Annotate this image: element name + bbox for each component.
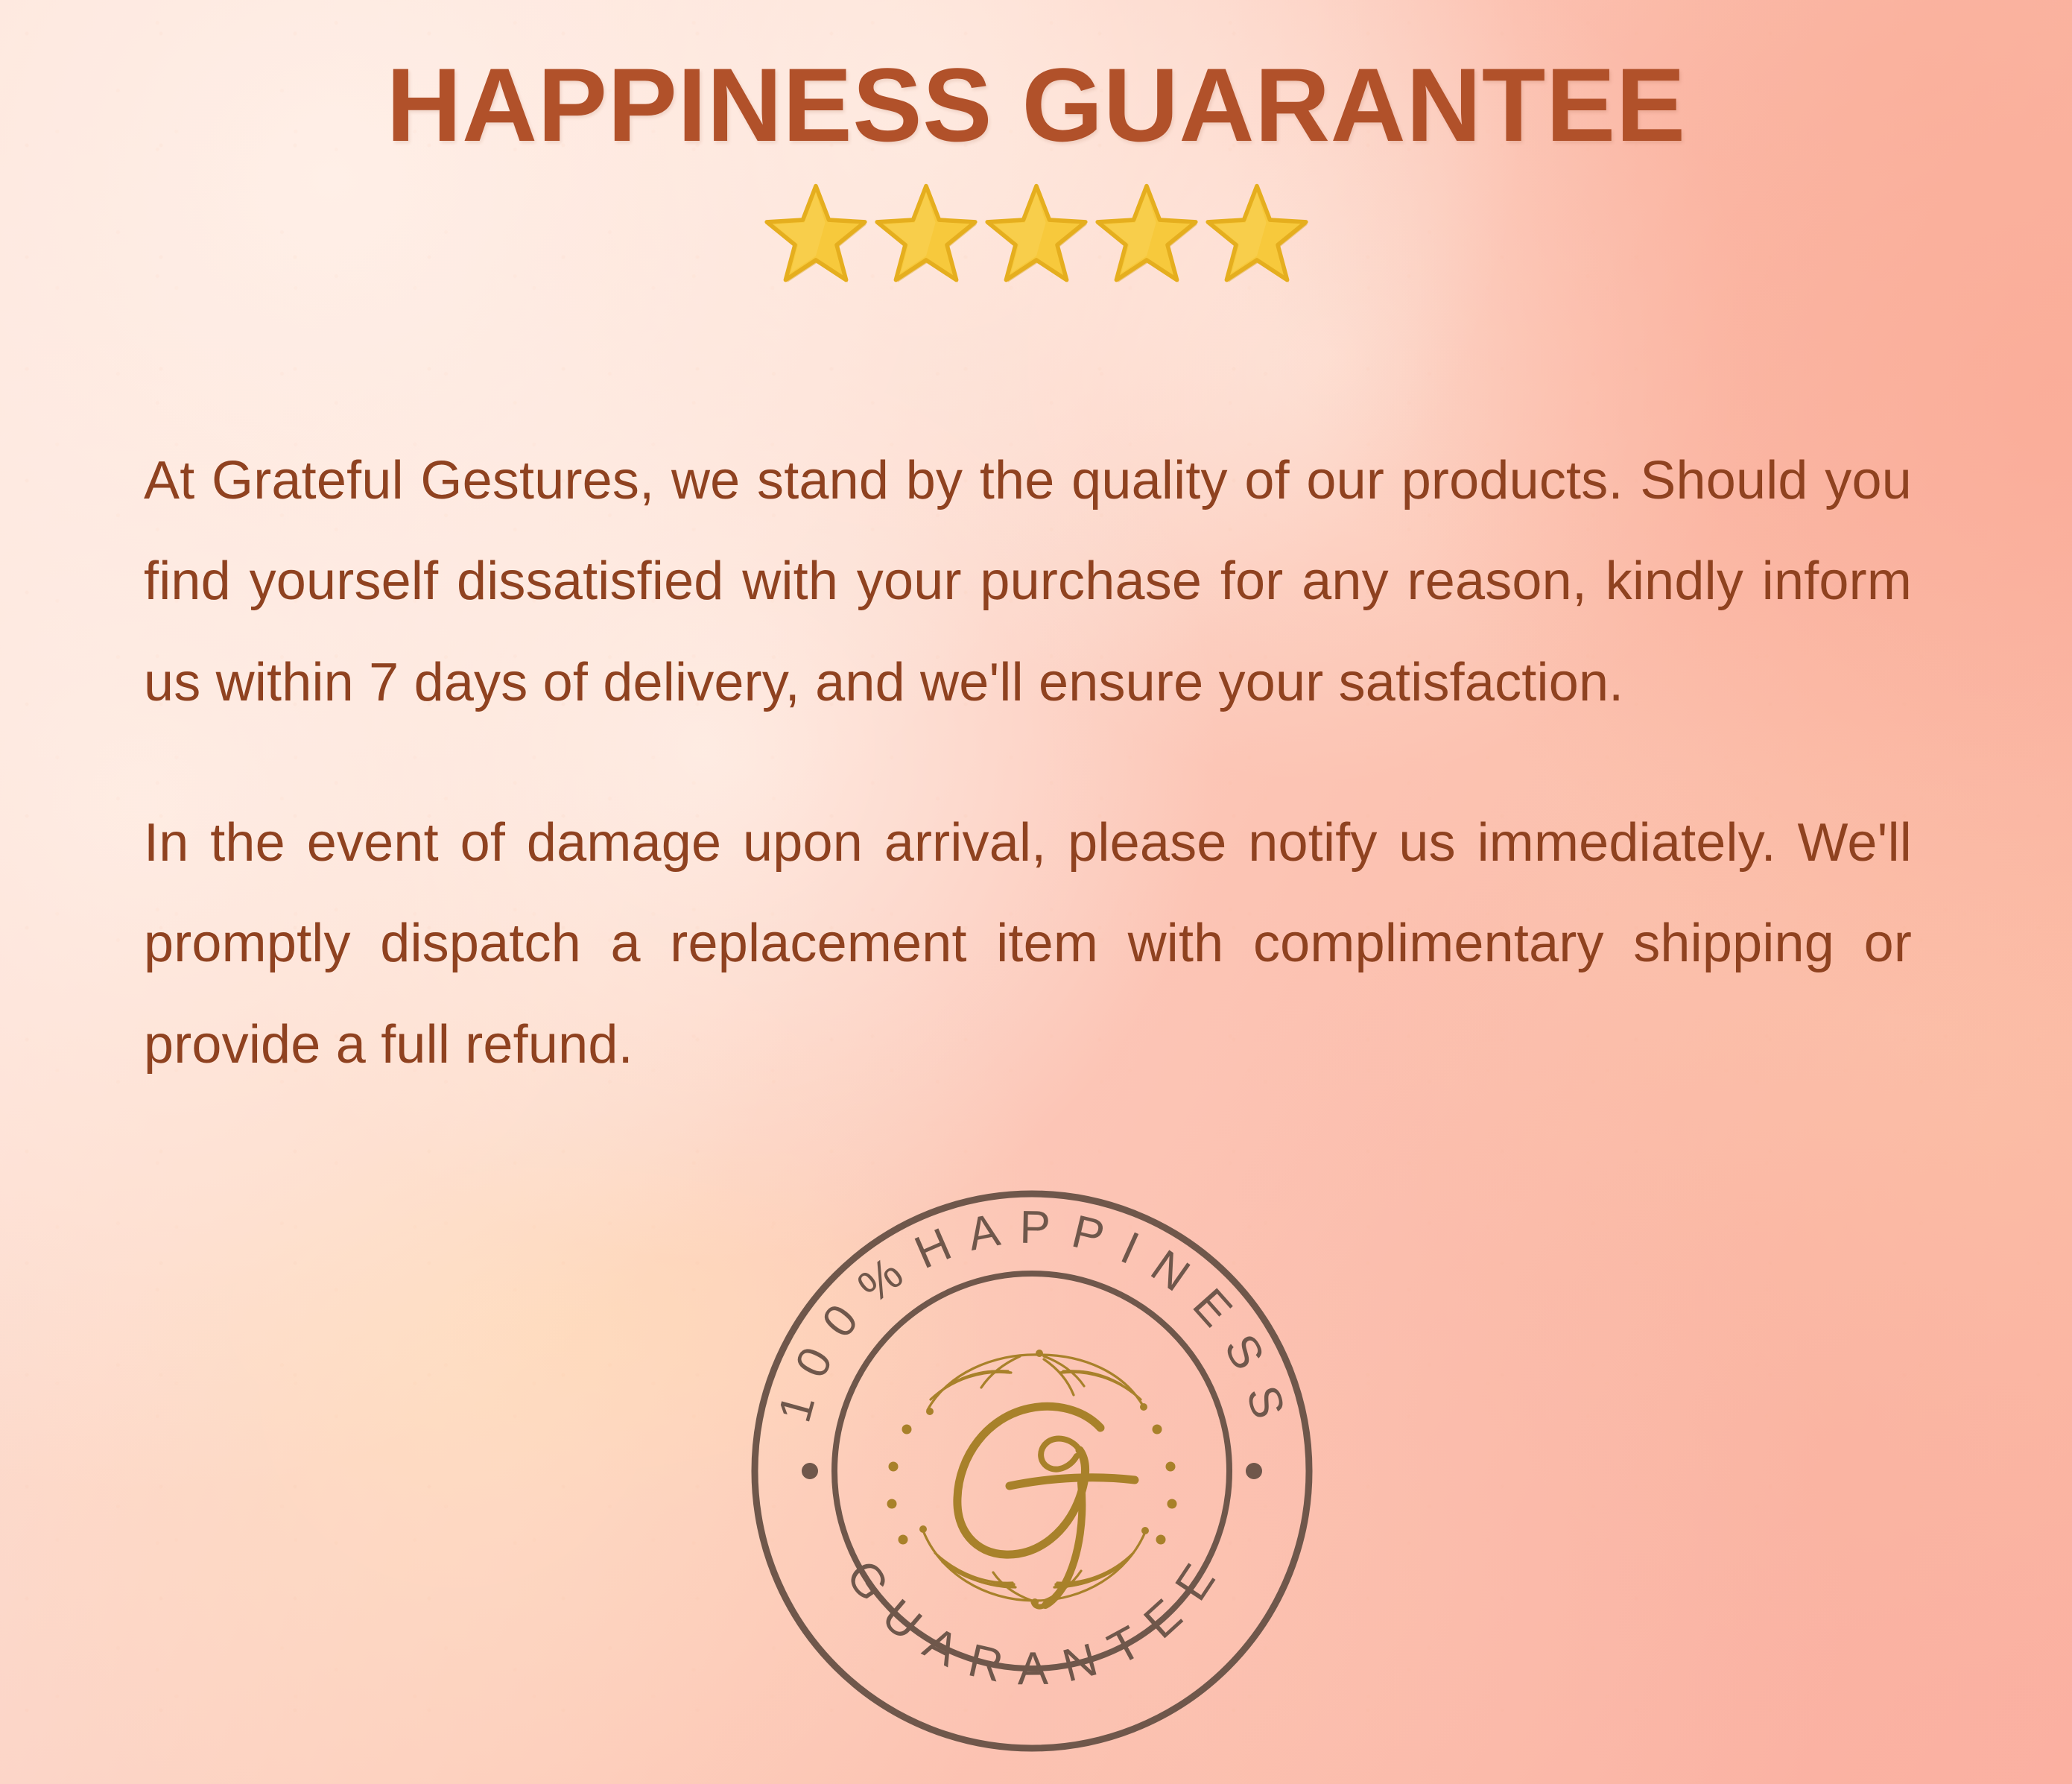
star-icon: [1205, 183, 1309, 285]
seal-separator-dot-right: [1246, 1463, 1262, 1479]
seal-wheat-sprig-bottom: [919, 1525, 1149, 1606]
guarantee-seal: 1 0 0 % H A P P I N E S S G U A R A N T …: [747, 1186, 1317, 1756]
seal-dotted-arc-right: [1153, 1425, 1177, 1545]
seal-bottom-arc-text: G U A R A N T E E: [836, 1551, 1228, 1695]
poster-content: HAPPINESS GUARANTEE: [0, 0, 2072, 1784]
page-title: HAPPINESS GUARANTEE: [0, 51, 2072, 159]
seal-dotted-arc-left: [887, 1425, 912, 1545]
star-icon: [764, 183, 868, 285]
seal-separator-dot-left: [802, 1463, 818, 1479]
star-rating: [0, 183, 2072, 285]
happiness-guarantee-poster: HAPPINESS GUARANTEE: [0, 0, 2072, 1784]
policy-paragraph-1: At Grateful Gestures, we stand by the qu…: [144, 431, 1912, 733]
policy-paragraph-2: In the event of damage upon arrival, ple…: [144, 793, 1912, 1095]
policy-text-block: At Grateful Gestures, we stand by the qu…: [144, 431, 1912, 1095]
star-icon: [984, 183, 1089, 285]
star-icon: [874, 183, 978, 285]
star-icon: [1094, 183, 1199, 285]
